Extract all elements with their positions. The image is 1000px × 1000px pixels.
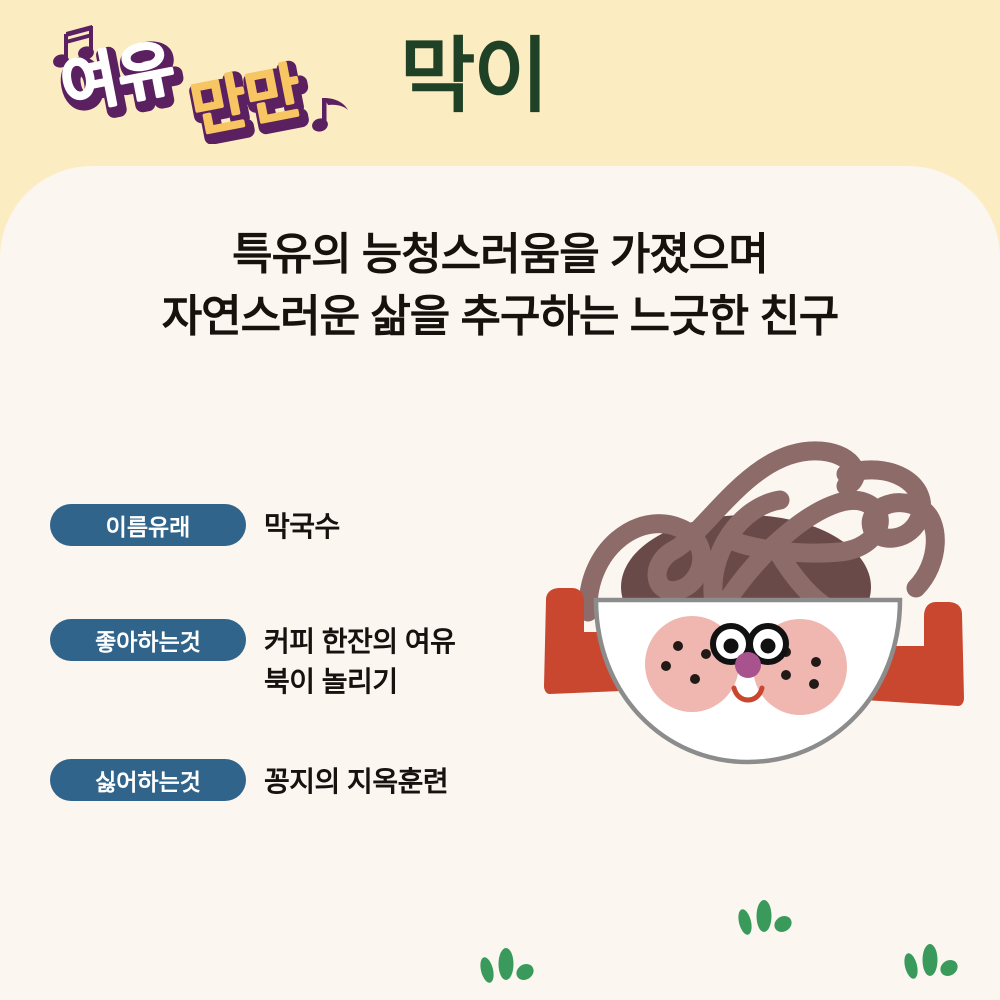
grass-tuft-left bbox=[478, 944, 536, 986]
info-value: 커피 한잔의 여유 bbox=[264, 622, 455, 662]
info-row-dislikes: 싫어하는것 꽁지의 지옥훈련 bbox=[50, 759, 570, 802]
info-list: 이름유래 막국수 좋아하는것 커피 한잔의 여유 북이 놀리기 싫어하는것 꽁지… bbox=[50, 504, 570, 802]
grass-tuft-right bbox=[902, 940, 960, 982]
music-note-single-icon bbox=[311, 98, 348, 133]
info-values-dislikes: 꽁지의 지옥훈련 bbox=[264, 759, 448, 802]
card-canvas: 여유 여유 만만 만만 막이 특유의 능청스러움을 가졌 bbox=[0, 0, 1000, 1000]
info-row-name-origin: 이름유래 막국수 bbox=[50, 504, 570, 547]
info-row-likes: 좋아하는것 커피 한잔의 여유 북이 놀리기 bbox=[50, 619, 570, 702]
nose bbox=[735, 652, 761, 678]
brand-logo: 여유 여유 만만 만만 bbox=[52, 14, 372, 144]
info-values-likes: 커피 한잔의 여유 북이 놀리기 bbox=[264, 619, 455, 702]
header: 여유 여유 만만 만만 막이 bbox=[0, 0, 1000, 170]
character-description: 특유의 능청스러움을 가졌으며 자연스러운 삶을 추구하는 느긋한 친구 bbox=[0, 224, 1000, 349]
info-badge-likes: 좋아하는것 bbox=[50, 619, 246, 661]
description-line-1: 특유의 능청스러움을 가졌으며 bbox=[0, 224, 1000, 286]
info-value: 막국수 bbox=[264, 507, 340, 547]
description-line-2: 자연스러운 삶을 추구하는 느긋한 친구 bbox=[0, 286, 1000, 348]
info-badge-dislikes: 싫어하는것 bbox=[50, 759, 246, 801]
page-title: 막이 bbox=[400, 36, 547, 118]
brand-logo-white-part: 여유 여유 bbox=[56, 33, 185, 128]
info-values-name-origin: 막국수 bbox=[264, 504, 340, 547]
bowl-body bbox=[596, 600, 900, 762]
info-value: 꽁지의 지옥훈련 bbox=[264, 762, 448, 802]
grass-tuft-middle bbox=[736, 896, 794, 938]
info-value: 북이 놀리기 bbox=[264, 662, 455, 702]
info-badge-name-origin: 이름유래 bbox=[50, 504, 246, 546]
brand-logo-yellow-part: 만만 만만 bbox=[186, 57, 311, 144]
noodle-bowl-character-illustration bbox=[528, 432, 980, 784]
